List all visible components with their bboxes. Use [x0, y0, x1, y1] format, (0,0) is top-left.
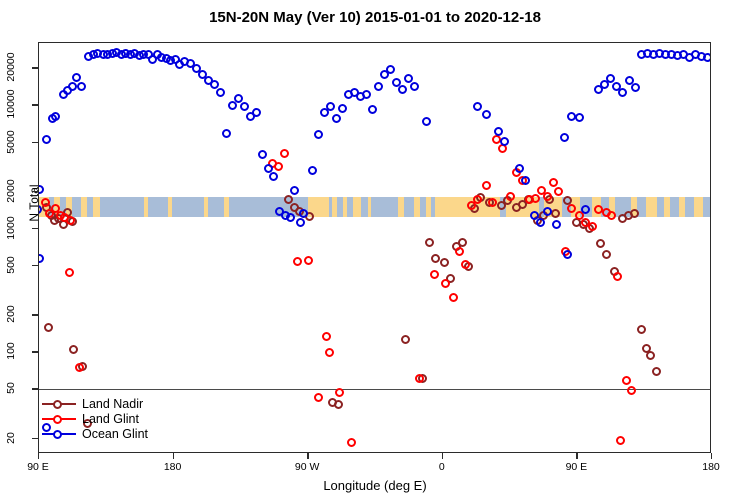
data-point	[335, 388, 344, 397]
data-point	[482, 110, 491, 119]
data-point	[415, 374, 424, 383]
data-point	[51, 112, 60, 121]
data-point	[554, 187, 563, 196]
data-point	[449, 293, 458, 302]
map-landmass	[81, 197, 87, 217]
map-landmass	[144, 197, 148, 217]
map-landmass	[398, 197, 404, 217]
data-point	[304, 256, 313, 265]
data-point	[75, 363, 84, 372]
y-tick: 2000	[0, 191, 38, 192]
data-point	[613, 272, 622, 281]
data-point	[332, 114, 341, 123]
data-point	[588, 222, 597, 231]
data-point	[269, 172, 278, 181]
legend-item-land-glint[interactable]: Land Glint	[42, 411, 148, 426]
map-landmass	[426, 197, 430, 217]
map-landmass	[679, 197, 685, 217]
data-point	[293, 257, 302, 266]
legend-circle-icon	[53, 400, 62, 409]
map-landmass	[694, 197, 703, 217]
data-point	[210, 80, 219, 89]
legend-label: Land Glint	[82, 412, 139, 426]
data-point	[494, 127, 503, 136]
legend-item-ocean-glint[interactable]: Ocean Glint	[42, 426, 148, 441]
data-point	[65, 268, 74, 277]
x-tick-label: 90 W	[277, 461, 337, 473]
legend-label: Land Nadir	[82, 397, 143, 411]
data-point	[455, 247, 464, 256]
data-point	[552, 220, 561, 229]
data-point	[322, 332, 331, 341]
data-point	[440, 258, 449, 267]
data-point	[627, 386, 636, 395]
legend-marker-icon	[42, 397, 76, 411]
y-tick-label: 5000	[0, 122, 31, 162]
data-point	[521, 176, 530, 185]
map-landmass	[646, 197, 656, 217]
data-point	[374, 82, 383, 91]
map-landmass	[343, 197, 347, 217]
y-tick: 500	[0, 265, 38, 266]
data-point	[618, 88, 627, 97]
data-point	[386, 65, 395, 74]
data-point	[398, 85, 407, 94]
y-tick: 50	[0, 388, 38, 389]
data-point	[280, 149, 289, 158]
data-point	[581, 205, 590, 214]
y-tick: 20000	[0, 67, 38, 68]
data-point	[596, 239, 605, 248]
legend-circle-icon	[53, 430, 62, 439]
y-tick-label: 50	[0, 368, 31, 408]
data-point	[646, 351, 655, 360]
map-landmass	[664, 197, 670, 217]
data-point	[69, 345, 78, 354]
legend-label: Ocean Glint	[82, 427, 148, 441]
data-point	[607, 211, 616, 220]
data-point	[38, 254, 44, 263]
data-point	[38, 185, 44, 194]
y-axis-ticks: 20501002005001000200050001000020000	[0, 42, 38, 453]
x-tick-label: 90 E	[546, 461, 606, 473]
x-tick-label: 90 E	[8, 461, 68, 473]
data-point	[68, 82, 77, 91]
map-landmass	[224, 197, 228, 217]
data-point	[703, 53, 711, 62]
y-tick: 5000	[0, 142, 38, 143]
data-point	[488, 198, 497, 207]
data-point	[314, 130, 323, 139]
y-tick: 100	[0, 351, 38, 352]
data-point	[458, 238, 467, 247]
map-landmass	[332, 197, 336, 217]
x-tick-mark	[173, 453, 174, 459]
map-landmass	[204, 197, 208, 217]
data-point	[652, 367, 661, 376]
data-point	[296, 218, 305, 227]
data-point	[425, 238, 434, 247]
map-landmass	[93, 197, 100, 217]
data-point	[334, 400, 343, 409]
data-point	[622, 376, 631, 385]
data-point	[41, 198, 50, 207]
data-point	[72, 73, 81, 82]
data-point	[44, 323, 53, 332]
x-axis-label: Longitude (deg E)	[0, 478, 750, 493]
map-landmass	[353, 197, 360, 217]
data-point	[602, 250, 611, 259]
x-tick-label: 0	[412, 461, 472, 473]
data-point	[422, 117, 431, 126]
y-tick-label: 20000	[0, 47, 31, 87]
data-point	[473, 102, 482, 111]
plot-area	[38, 42, 711, 453]
x-axis-ticks: 90 E18090 W090 E180	[38, 453, 711, 479]
data-point	[338, 104, 347, 113]
x-tick-mark	[576, 453, 577, 459]
y-tick-label: 100	[0, 331, 31, 371]
y-tick: 10000	[0, 104, 38, 105]
legend-circle-icon	[53, 415, 62, 424]
data-point	[368, 105, 377, 114]
reference-line	[39, 389, 710, 390]
y-tick-label: 2000	[0, 171, 31, 211]
data-point	[240, 102, 249, 111]
y-tick: 1000	[0, 228, 38, 229]
x-tick-label: 180	[681, 461, 741, 473]
data-point	[560, 133, 569, 142]
data-point	[77, 82, 86, 91]
data-point	[286, 213, 295, 222]
data-point	[308, 166, 317, 175]
y-tick-label: 200	[0, 294, 31, 334]
data-point	[290, 186, 299, 195]
chart-legend: Land NadirLand GlintOcean Glint	[42, 396, 148, 441]
legend-item-land-nadir[interactable]: Land Nadir	[42, 396, 148, 411]
chart-root: 15N-20N May (Ver 10) 2015-01-01 to 2020-…	[0, 0, 750, 500]
data-point	[362, 90, 371, 99]
data-point	[631, 83, 640, 92]
data-point	[314, 393, 323, 402]
data-point	[575, 113, 584, 122]
data-point	[637, 325, 646, 334]
data-point	[252, 108, 261, 117]
data-point	[410, 82, 419, 91]
y-tick: 20	[0, 438, 38, 439]
chart-title: 15N-20N May (Ver 10) 2015-01-01 to 2020-…	[0, 9, 750, 26]
legend-marker-icon	[42, 427, 76, 441]
data-point	[401, 335, 410, 344]
data-point	[274, 162, 283, 171]
data-point	[258, 150, 267, 159]
data-point	[441, 279, 450, 288]
legend-marker-icon	[42, 412, 76, 426]
y-tick: 200	[0, 314, 38, 315]
map-landmass	[414, 197, 420, 217]
y-tick-label: 10000	[0, 84, 31, 124]
data-point	[326, 102, 335, 111]
data-point	[551, 209, 560, 218]
data-point	[630, 209, 639, 218]
data-point	[500, 137, 509, 146]
data-point	[563, 250, 572, 259]
y-tick-label: 1000	[0, 208, 31, 248]
map-landmass	[168, 197, 172, 217]
data-point	[549, 178, 558, 187]
data-point	[536, 218, 545, 227]
data-point	[430, 270, 439, 279]
x-tick-mark	[711, 453, 712, 459]
data-point	[482, 181, 491, 190]
y-tick-label: 500	[0, 245, 31, 285]
data-point	[325, 348, 334, 357]
y-tick-label: 20	[0, 418, 31, 458]
x-tick-label: 180	[143, 461, 203, 473]
data-point	[347, 438, 356, 447]
data-point	[431, 254, 440, 263]
x-tick-mark	[442, 453, 443, 459]
data-point	[543, 192, 552, 201]
data-point	[473, 195, 482, 204]
data-point	[515, 164, 524, 173]
data-point	[42, 135, 51, 144]
data-point	[216, 88, 225, 97]
data-point	[222, 129, 231, 138]
map-landmass	[368, 197, 371, 217]
data-point	[616, 436, 625, 445]
x-tick-mark	[307, 453, 308, 459]
data-point	[284, 195, 293, 204]
x-tick-mark	[38, 453, 39, 459]
data-point	[506, 192, 515, 201]
